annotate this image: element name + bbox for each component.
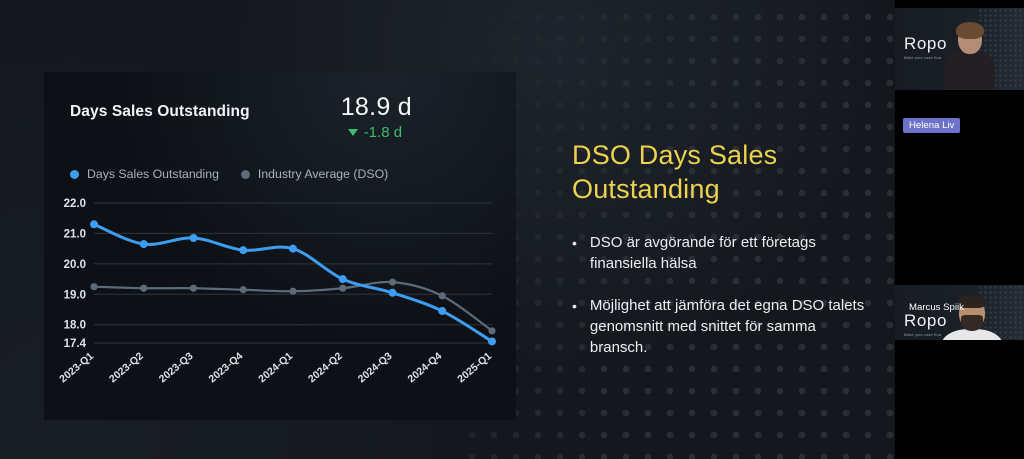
y-axis-tick-label: 18.0 bbox=[64, 320, 86, 332]
chart-line-dso bbox=[94, 225, 492, 342]
chart-data-point bbox=[190, 234, 198, 242]
bullet-marker-icon: • bbox=[572, 295, 577, 359]
chart-data-point bbox=[339, 285, 346, 292]
chart-data-point bbox=[389, 279, 396, 286]
participant-name-badge: Marcus Spiik bbox=[903, 300, 970, 315]
chart-card-header: Days Sales Outstanding 18.9 d -1.8 d bbox=[44, 72, 516, 141]
kpi-value: 18.9 d bbox=[341, 94, 412, 120]
x-axis-tick-label: 2025-Q1 bbox=[456, 351, 494, 386]
person-silhouette bbox=[945, 22, 995, 90]
delta-down-arrow-icon bbox=[348, 129, 358, 136]
bullet-marker-icon: • bbox=[572, 232, 577, 275]
chart-data-point bbox=[488, 338, 496, 346]
y-axis-tick-label: 20.0 bbox=[64, 259, 86, 271]
y-axis-tick-label: 22.0 bbox=[64, 198, 86, 210]
person-hair bbox=[956, 22, 984, 39]
participant-rail: Ropo Make your cash flow Helena Liv Ropo… bbox=[895, 0, 1024, 459]
chart-data-point bbox=[488, 327, 495, 334]
legend-item-industry-average: Industry Average (DSO) bbox=[241, 167, 388, 181]
slide-bullet-list: • DSO är avgörande för ett företags fina… bbox=[572, 232, 872, 358]
y-axis-tick-label: 19.0 bbox=[64, 290, 86, 302]
chart-data-point bbox=[439, 292, 446, 299]
kpi-delta: -1.8 d bbox=[341, 124, 412, 141]
legend-item-dso: Days Sales Outstanding bbox=[70, 167, 219, 181]
shared-screen-slide: Days Sales Outstanding 18.9 d -1.8 d Day… bbox=[0, 0, 895, 459]
chart-card: Days Sales Outstanding 18.9 d -1.8 d Day… bbox=[44, 72, 516, 420]
legend-dot-icon bbox=[241, 170, 250, 179]
chart-data-point bbox=[339, 275, 347, 283]
participant-video: Ropo Make your cash flow bbox=[895, 8, 1024, 90]
bullet-text: DSO är avgörande för ett företags finans… bbox=[590, 232, 872, 275]
slide-heading: DSO Days Sales Outstanding bbox=[572, 138, 872, 206]
x-axis-tick-label: 2023-Q3 bbox=[157, 351, 195, 386]
kpi-delta-value: -1.8 d bbox=[364, 124, 402, 141]
brand-tagline: Make your cash flow bbox=[904, 56, 947, 60]
kpi-block: 18.9 d -1.8 d bbox=[341, 94, 490, 141]
brand-wordmark: Ropo bbox=[904, 34, 947, 54]
x-axis-tick-label: 2024-Q4 bbox=[406, 351, 444, 386]
chart-data-point bbox=[389, 289, 397, 297]
chart-data-point bbox=[438, 307, 446, 315]
chart-data-point bbox=[190, 285, 197, 292]
list-item: • DSO är avgörande för ett företags fina… bbox=[572, 232, 872, 275]
x-axis-tick-label: 2023-Q2 bbox=[108, 351, 146, 386]
y-axis-tick-label: 21.0 bbox=[64, 229, 86, 241]
chart-data-point bbox=[90, 221, 98, 229]
y-axis-tick-label: 17.4 bbox=[64, 338, 87, 350]
chart-data-point bbox=[140, 285, 147, 292]
x-axis-tick-label: 2024-Q3 bbox=[356, 351, 394, 386]
ropo-logo: Ropo Make your cash flow bbox=[904, 34, 947, 60]
chart-data-point bbox=[90, 283, 97, 290]
person-beard bbox=[961, 315, 983, 331]
chart-plot-area: 22.021.020.019.018.017.42023-Q12023-Q220… bbox=[44, 195, 516, 387]
bullet-text: Möjlighet att jämföra det egna DSO talet… bbox=[590, 295, 872, 359]
legend-label: Days Sales Outstanding bbox=[87, 167, 219, 181]
participant-tile-marcus-spiik[interactable]: Ropo Make your cash flow Marcus Spiik bbox=[895, 160, 1024, 340]
legend-label: Industry Average (DSO) bbox=[258, 167, 388, 181]
chart-title: Days Sales Outstanding bbox=[70, 94, 341, 141]
chart-data-point bbox=[239, 246, 247, 254]
line-chart-svg: 22.021.020.019.018.017.42023-Q12023-Q220… bbox=[48, 195, 498, 387]
x-axis-tick-label: 2023-Q1 bbox=[58, 351, 96, 386]
chart-data-point bbox=[289, 245, 297, 253]
participant-name-badge: Helena Liv bbox=[903, 118, 960, 133]
person-body bbox=[945, 50, 995, 90]
chart-data-point bbox=[140, 240, 148, 248]
participant-tile-helena-liv[interactable]: Ropo Make your cash flow Helena Liv bbox=[895, 0, 1024, 160]
chart-legend: Days Sales Outstanding Industry Average … bbox=[44, 141, 516, 181]
chart-data-point bbox=[240, 286, 247, 293]
list-item: • Möjlighet att jämföra det egna DSO tal… bbox=[572, 295, 872, 359]
x-axis-tick-label: 2024-Q1 bbox=[257, 351, 295, 386]
x-axis-tick-label: 2024-Q2 bbox=[307, 351, 345, 386]
slide-text-block: DSO Days Sales Outstanding • DSO är avgö… bbox=[572, 138, 872, 379]
x-axis-tick-label: 2023-Q4 bbox=[207, 351, 245, 386]
chart-data-point bbox=[289, 288, 296, 295]
legend-dot-icon bbox=[70, 170, 79, 179]
